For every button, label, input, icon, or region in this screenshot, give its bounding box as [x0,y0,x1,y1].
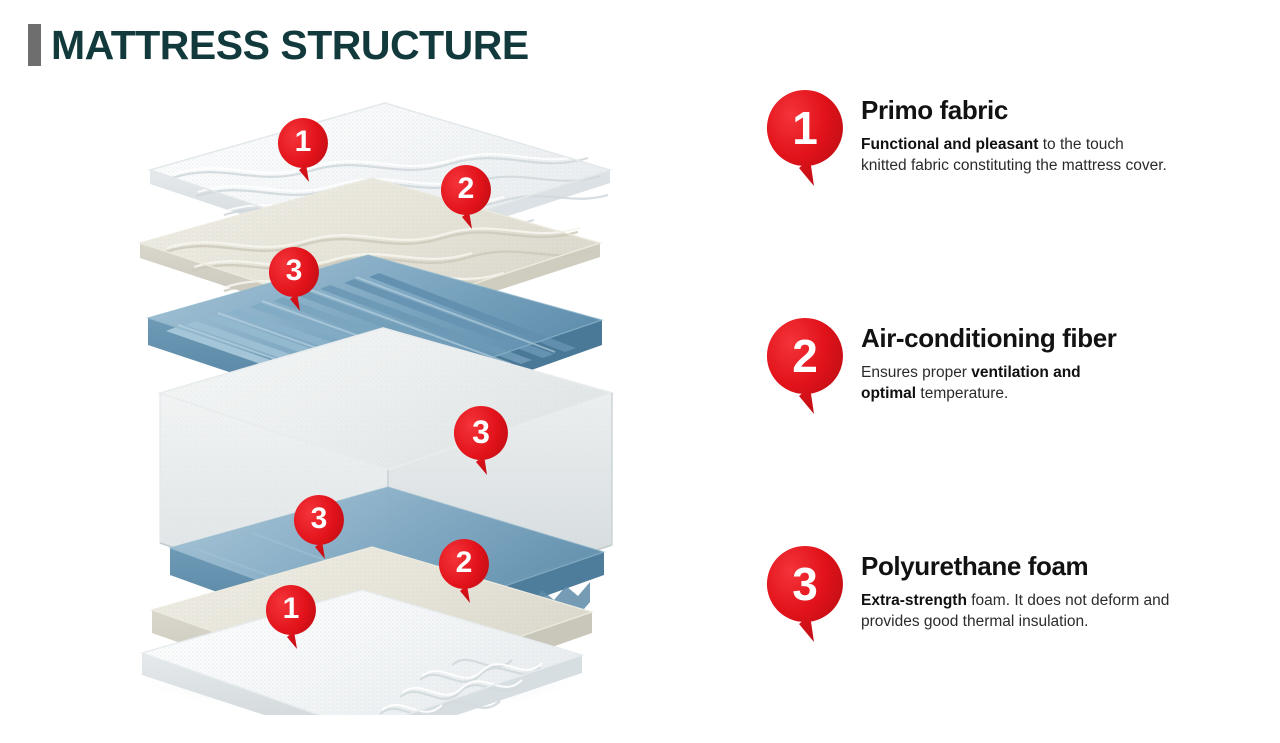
legend-item-2: 2 Air-conditioning fiber Ensures proper … [765,316,1265,416]
legend-desc-1: Functional and pleasant to the touch kni… [861,134,1167,177]
legend-pin-2[interactable]: 2 [765,316,861,416]
legend-desc-bold-1: Functional and pleasant [861,136,1038,153]
legend-desc-rest-1: to the touch [1038,136,1123,153]
legend-title-3: Polyurethane foam [861,552,1171,581]
legend-marker-number: 1 [765,105,845,151]
legend-title-2: Air-conditioning fiber [861,324,1117,353]
legend-panel: 1 Primo fabric Functional and pleasant t… [765,88,1265,644]
legend-text-1: Primo fabric Functional and pleasant to … [861,88,1167,176]
legend-text-3: Polyurethane foam Extra-strength foam. I… [861,544,1171,632]
legend-desc-2: Ensures proper ventilation and optimal t… [861,362,1111,405]
legend-desc-line2-1: knitted fabric constituting the mattress… [861,157,1167,174]
legend-desc-post-2: temperature. [916,385,1008,402]
page-title-row: MATTRESS STRUCTURE [28,24,529,66]
legend-item-3: 3 Polyurethane foam Extra-strength foam.… [765,544,1265,644]
page-title: MATTRESS STRUCTURE [51,25,529,66]
legend-marker-number: 3 [765,561,845,607]
legend-desc-bold-3: Extra-strength [861,592,967,609]
legend-item-1: 1 Primo fabric Functional and pleasant t… [765,88,1265,188]
legend-text-2: Air-conditioning fiber Ensures proper ve… [861,316,1117,404]
legend-desc-3: Extra-strength foam. It does not deform … [861,590,1171,633]
title-accent-bar [28,24,41,66]
mattress-diagram: 1 2 3 3 3 [0,75,700,715]
legend-title-1: Primo fabric [861,96,1167,125]
legend-pin-3[interactable]: 3 [765,544,861,644]
infographic-root: MATTRESS STRUCTURE [0,0,1280,743]
legend-marker-number: 2 [765,333,845,379]
legend-desc-pre-2: Ensures proper [861,364,971,381]
legend-pin-1[interactable]: 1 [765,88,861,188]
